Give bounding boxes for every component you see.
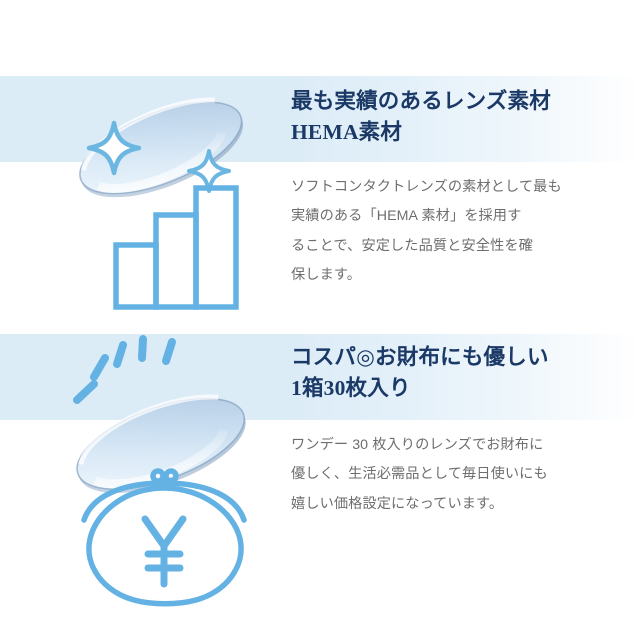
contact-lens-graphic — [66, 380, 257, 512]
bar-chart-icon — [116, 188, 236, 307]
feature-list-page: 最も実績のあるレンズ素材 HEMA素材 ソフトコンタクトレンズの素材として最も … — [0, 0, 640, 640]
yen-symbol — [145, 519, 183, 584]
ray — [142, 339, 143, 358]
sparkle-rays-icon — [77, 339, 172, 400]
feature-heading: 最も実績のあるレンズ素材 HEMA素材 — [291, 86, 591, 147]
feature-body: ソフトコンタクトレンズの素材として最も 実績のある「HEMA 素材」を採用す る… — [291, 173, 591, 290]
ray — [117, 345, 123, 364]
feature-text-cost-performance: コスパ◎お財布にも優しい 1箱30枚入り ワンデー 30 枚入りのレンズでお財布… — [291, 342, 591, 519]
illustration-hema-material — [0, 40, 291, 340]
feature-text-hema-material: 最も実績のあるレンズ素材 HEMA素材 ソフトコンタクトレンズの素材として最も … — [291, 86, 591, 290]
ray — [94, 358, 105, 377]
bar-chart-bar — [156, 215, 196, 307]
ray — [77, 384, 94, 400]
feature-section-hema-material: 最も実績のあるレンズ素材 HEMA素材 ソフトコンタクトレンズの素材として最も … — [0, 40, 640, 340]
feature-heading: コスパ◎お財布にも優しい 1箱30枚入り — [291, 342, 591, 403]
illustration-cost-performance — [0, 320, 291, 620]
bar-chart-bar — [116, 245, 156, 307]
ray — [166, 342, 172, 361]
bar-chart-bar — [196, 188, 236, 307]
feature-body: ワンデー 30 枚入りのレンズでお財布に 優しく、生活必需品として毎日使いにも … — [291, 431, 591, 519]
feature-section-cost-performance: コスパ◎お財布にも優しい 1箱30枚入り ワンデー 30 枚入りのレンズでお財布… — [0, 320, 640, 620]
